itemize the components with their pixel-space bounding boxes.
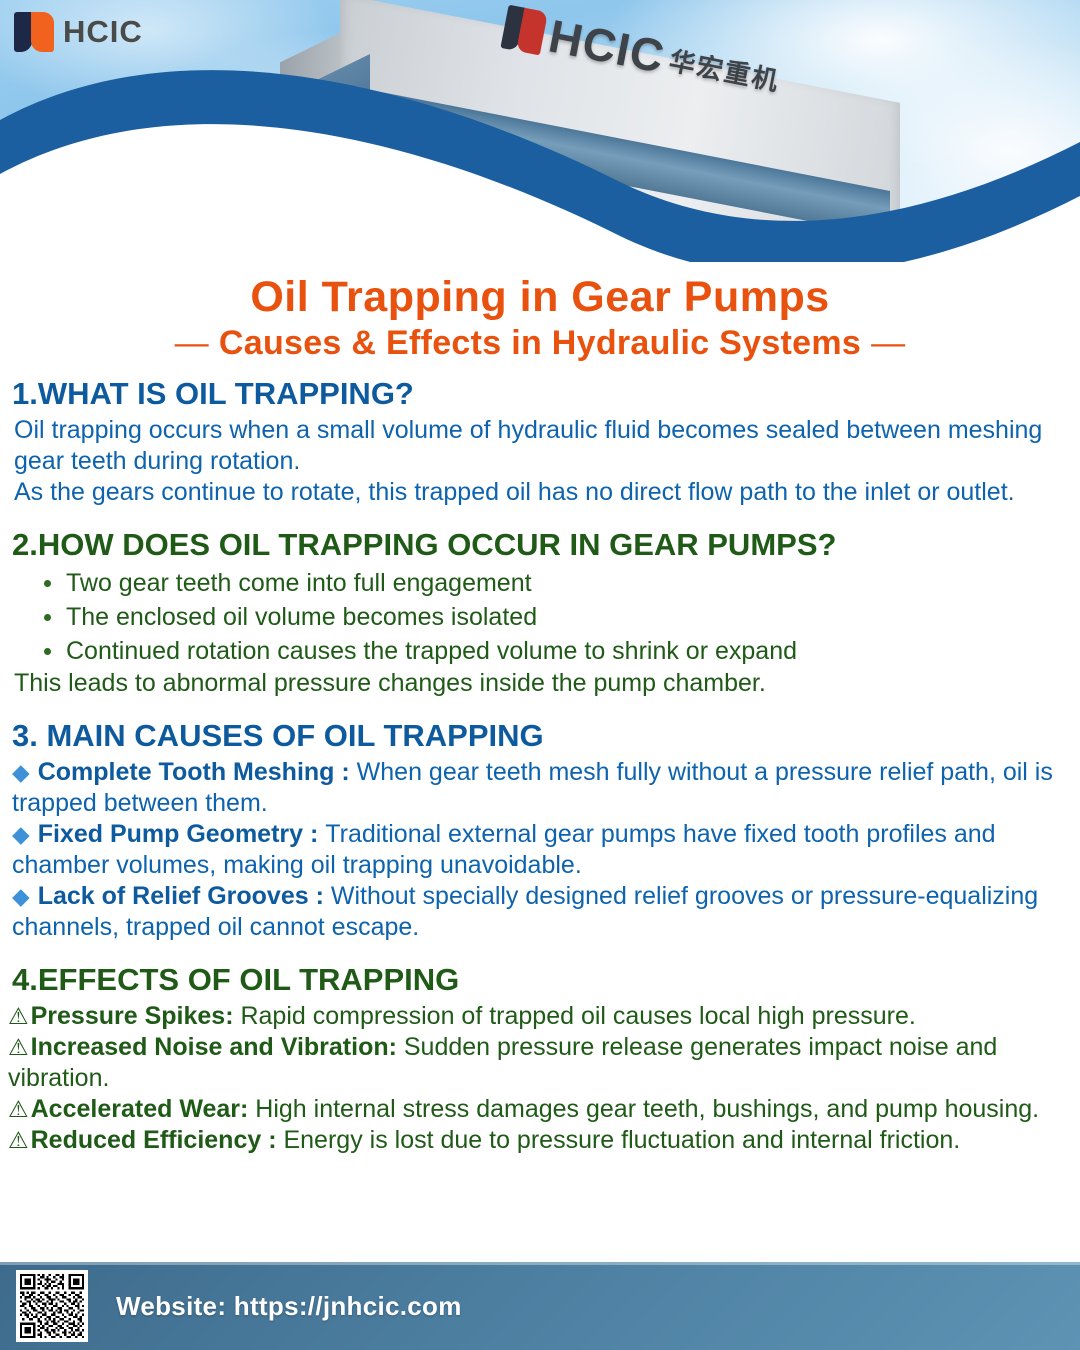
content-area: 1.WHAT IS OIL TRAPPING? Oil trapping occ… <box>0 375 1080 1156</box>
hcic-logo-text: HCIC <box>63 14 143 50</box>
section-how-does-it-occur: 2.HOW DOES OIL TRAPPING OCCUR IN GEAR PU… <box>0 526 1080 699</box>
page-subtitle: —Causes & Effects in Hydraulic Systems— <box>0 322 1080 364</box>
diamond-bullet-icon: ◆ <box>12 821 38 847</box>
effect-item-2: ⚠Increased Noise and Vibration: Sudden p… <box>8 1032 1072 1094</box>
warning-triangle-icon: ⚠ <box>8 1096 31 1122</box>
diamond-bullet-icon: ◆ <box>12 883 38 909</box>
section-effects: 4.EFFECTS OF OIL TRAPPING ⚠Pressure Spik… <box>0 961 1080 1156</box>
subtitle-text: Causes & Effects in Hydraulic Systems <box>219 324 861 362</box>
cause-term-2: Fixed Pump Geometry <box>38 820 303 848</box>
section-2-closing: This leads to abnormal pressure changes … <box>14 668 1072 699</box>
effect-item-1: ⚠Pressure Spikes: Rapid compression of t… <box>8 1001 1072 1032</box>
subtitle-dash-left: — <box>165 324 219 362</box>
warning-triangle-icon: ⚠ <box>8 1034 31 1060</box>
hcic-logo[interactable]: HCIC <box>14 12 143 52</box>
qr-code-icon <box>20 1274 84 1338</box>
page-title: Oil Trapping in Gear Pumps <box>0 262 1080 322</box>
qr-code[interactable] <box>16 1270 88 1342</box>
effect-desc-4: Energy is lost due to pressure fluctuati… <box>277 1126 961 1154</box>
effect-term-4: Reduced Efficiency : <box>31 1126 277 1154</box>
hcic-logo-icon <box>14 12 54 52</box>
list-item: Two gear teeth come into full engagement <box>42 566 1072 600</box>
cause-item-2: ◆Fixed Pump Geometry : Traditional exter… <box>12 819 1072 881</box>
title-block: Oil Trapping in Gear Pumps —Causes & Eff… <box>0 262 1080 364</box>
cause-separator-1: : <box>334 758 356 786</box>
effect-term-3: Accelerated Wear: <box>31 1095 249 1123</box>
section-4-heading: 4.EFFECTS OF OIL TRAPPING <box>12 961 1072 999</box>
footer-bar: Website: https://jnhcic.com <box>0 1262 1080 1350</box>
effect-term-1: Pressure Spikes: <box>31 1002 234 1030</box>
header-wave-decoration <box>0 0 1080 262</box>
effect-desc-1: Rapid compression of trapped oil causes … <box>234 1002 916 1030</box>
effect-item-3: ⚠Accelerated Wear: High internal stress … <box>8 1094 1072 1125</box>
effect-item-4: ⚠Reduced Efficiency : Energy is lost due… <box>8 1125 1072 1156</box>
cause-term-1: Complete Tooth Meshing <box>38 758 335 786</box>
section-3-heading: 3. MAIN CAUSES OF OIL TRAPPING <box>12 717 1072 755</box>
effect-desc-3: High internal stress damages gear teeth,… <box>248 1095 1039 1123</box>
section-what-is-oil-trapping: 1.WHAT IS OIL TRAPPING? Oil trapping occ… <box>0 375 1080 508</box>
section-main-causes: 3. MAIN CAUSES OF OIL TRAPPING ◆Complete… <box>0 717 1080 943</box>
hero-banner: HCIC 华宏重机 HCIC <box>0 0 1080 262</box>
warning-triangle-icon: ⚠ <box>8 1127 31 1153</box>
diamond-bullet-icon: ◆ <box>12 759 38 785</box>
section-1-paragraph-2: As the gears continue to rotate, this tr… <box>14 477 1072 508</box>
section-1-heading: 1.WHAT IS OIL TRAPPING? <box>12 375 1072 413</box>
section-2-bullet-list: Two gear teeth come into full engagement… <box>8 566 1072 668</box>
cause-item-3: ◆Lack of Relief Grooves : Without specia… <box>12 881 1072 943</box>
cause-item-1: ◆Complete Tooth Meshing : When gear teet… <box>12 757 1072 819</box>
list-item: Continued rotation causes the trapped vo… <box>42 634 1072 668</box>
warning-triangle-icon: ⚠ <box>8 1003 31 1029</box>
list-item: The enclosed oil volume becomes isolated <box>42 600 1072 634</box>
section-1-paragraph-1: Oil trapping occurs when a small volume … <box>14 415 1072 477</box>
cause-term-3: Lack of Relief Grooves <box>38 882 309 910</box>
footer-website-label[interactable]: Website: https://jnhcic.com <box>116 1291 462 1322</box>
cause-separator-3: : <box>309 882 331 910</box>
section-2-heading: 2.HOW DOES OIL TRAPPING OCCUR IN GEAR PU… <box>12 526 1072 564</box>
subtitle-dash-right: — <box>861 324 915 362</box>
effect-term-2: Increased Noise and Vibration: <box>31 1033 397 1061</box>
cause-separator-2: : <box>303 820 325 848</box>
